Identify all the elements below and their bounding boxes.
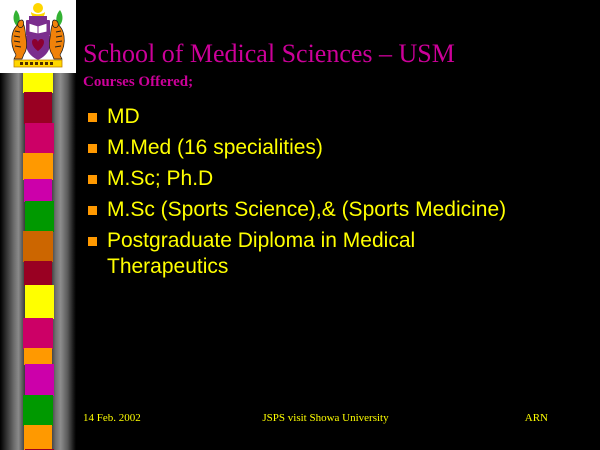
sidebar-stripe: [25, 364, 54, 396]
bullet-item-label: Postgraduate Diploma in Medical Therapeu…: [107, 229, 415, 279]
sidebar-stripe: [25, 123, 54, 154]
sidebar-stripe: [24, 92, 52, 124]
bullet-item: M.Sc (Sports Science),& (Sports Medicine…: [85, 197, 535, 224]
sidebar-stripe: [24, 179, 52, 202]
bullet-item: Postgraduate Diploma in Medical Therapeu…: [85, 228, 535, 282]
sidebar-stripe: [23, 72, 53, 93]
bullet-item: M.Med (16 specialities): [85, 135, 535, 162]
bullet-item-label: M.Sc; Ph.D: [107, 167, 213, 190]
sidebar-stripe: [24, 425, 52, 450]
sidebar-stripe: [23, 153, 53, 180]
square-bullet-icon: [88, 237, 97, 246]
square-bullet-icon: [88, 144, 97, 153]
footer-event-title: JSPS visit Showa University: [193, 412, 458, 424]
bullet-item-label: M.Sc (Sports Science),& (Sports Medicine…: [107, 198, 506, 221]
square-bullet-icon: [88, 113, 97, 122]
bullet-item-label: MD: [107, 105, 140, 128]
sidebar-stripe: [25, 285, 54, 319]
slide-subtitle: Courses Offered;: [83, 74, 193, 91]
sidebar-stripe: [25, 201, 54, 232]
square-bullet-icon: [88, 175, 97, 184]
sidebar-stripe: [23, 231, 53, 262]
sidebar-stripe: [23, 318, 53, 349]
bullet-list: MDM.Med (16 specialities)M.Sc; Ph.DM.Sc …: [85, 104, 535, 285]
coat-of-arms-icon: [0, 0, 76, 73]
bullet-item: MD: [85, 104, 535, 131]
slide-title: School of Medical Sciences – USM: [83, 40, 455, 69]
footer-author: ARN: [458, 412, 548, 424]
usm-crest-logo: [0, 0, 76, 73]
bullet-item: M.Sc; Ph.D: [85, 166, 535, 193]
sidebar-stripe: [24, 348, 52, 365]
slide-footer: 14 Feb. 2002 JSPS visit Showa University…: [83, 412, 548, 424]
sidebar-color-stripes: [24, 72, 53, 450]
slide-canvas: School of Medical Sciences – USM Courses…: [0, 0, 600, 450]
sidebar-stripe: [24, 261, 52, 286]
bullet-item-label: M.Med (16 specialities): [107, 136, 323, 159]
sidebar-stripe: [23, 395, 53, 426]
square-bullet-icon: [88, 206, 97, 215]
